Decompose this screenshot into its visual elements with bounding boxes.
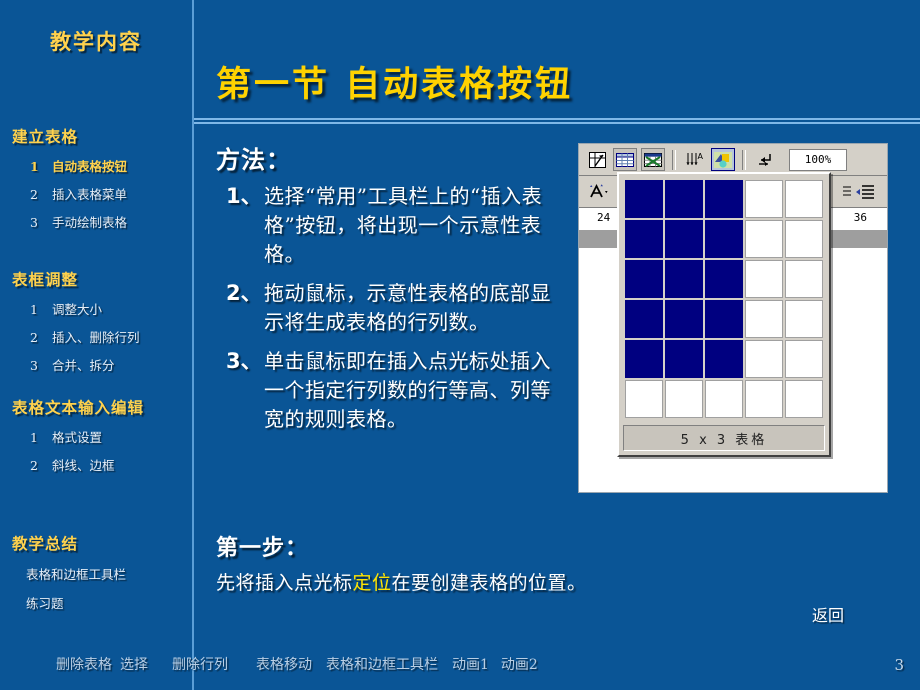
drawing-icon[interactable] [711,148,735,171]
sidebar-item-label: 斜线、边框 [52,455,115,474]
step-item: 1、 选择“常用”工具栏上的“插入表格”按钮，将出现一个示意性表格。 [226,182,566,269]
grid-cell[interactable] [705,340,743,378]
sidebar-item-exercises[interactable]: 练习题 [0,593,192,612]
step-one-title: 第一步： [216,530,308,562]
table-row [625,380,823,418]
svg-text:A: A [698,152,704,161]
footer-link-delete-rows-cols[interactable]: 删除行列 [172,654,228,674]
grid-cell[interactable] [665,380,703,418]
step-text: 选择“常用”工具栏上的“插入表格”按钮，将出现一个示意性表格。 [264,182,566,269]
grid-cell[interactable] [705,220,743,258]
sidebar-heading-1[interactable]: 建立表格 [0,125,192,147]
sidebar-group-4: 教学总结 表格和边框工具栏 练习题 [0,532,192,612]
table-grid-popup[interactable]: 5 x 3 表格 [617,172,831,457]
grid-cell[interactable] [745,300,783,338]
footer-link-tables-borders-toolbar[interactable]: 表格和边框工具栏 [326,654,438,674]
word-screenshot: A 100% [578,143,888,493]
grid-cell[interactable] [785,380,823,418]
grid-cell[interactable] [625,260,663,298]
sidebar-item-insert-delete-rows-cols[interactable]: 2 插入、删除行列 [0,327,192,346]
sidebar-item-number: 2 [30,187,52,202]
sidebar-item-number: 1 [30,430,52,445]
grid-cell[interactable] [705,380,743,418]
font-size-grow-icon[interactable] [587,180,611,203]
table-row [625,180,823,218]
insert-table-draw-icon[interactable] [585,148,609,171]
method-label: 方法： [216,140,291,175]
sidebar-item-insert-table-menu[interactable]: 2 插入表格菜单 [0,184,192,203]
grid-cell[interactable] [625,220,663,258]
list-lines-icon [841,180,853,203]
title-underline [194,118,920,124]
decrease-indent-icon[interactable] [853,180,877,203]
sidebar-item-number: 3 [30,215,52,230]
grid-cell[interactable] [785,300,823,338]
sidebar-group-3: 表格文本输入编辑 1 格式设置 2 斜线、边框 [0,396,192,474]
table-row [625,340,823,378]
step-item: 2、 拖动鼠标，示意性表格的底部显示将生成表格的行列数。 [226,279,566,337]
step-one-text-after: 在要创建表格的位置。 [392,572,587,594]
sidebar-item-label: 格式设置 [52,427,102,446]
sidebar-item-label: 手动绘制表格 [52,212,127,231]
step-one-text: 先将插入点光标定位在要创建表格的位置。 [216,568,587,595]
show-formatting-icon[interactable] [753,148,777,171]
sidebar-item-manual-draw-table[interactable]: 3 手动绘制表格 [0,212,192,231]
insert-table-icon[interactable] [613,148,637,171]
grid-cell[interactable] [625,380,663,418]
grid-cell[interactable] [705,180,743,218]
grid-cell[interactable] [745,380,783,418]
ruler-number-right: 36 [854,211,867,224]
sidebar-item-label: 调整大小 [52,299,102,318]
grid-cell[interactable] [705,260,743,298]
sidebar-item-number: 2 [30,458,52,473]
step-number: 2、 [226,279,264,337]
page-title: 第一节 自动表格按钮 [216,56,573,107]
toolbar-separator [742,150,746,170]
step-text: 拖动鼠标，示意性表格的底部显示将生成表格的行列数。 [264,279,566,337]
grid-cell[interactable] [625,340,663,378]
footer-links: 删除表格 选择 删除行列 表格移动 表格和边框工具栏 动画1 动画2 [56,654,538,674]
sidebar-item-number: 1 [30,159,52,174]
grid-cell[interactable] [665,260,703,298]
step-text: 单击鼠标即在插入点光标处插入一个指定行列数的行等高、列等宽的规则表格。 [264,347,566,434]
sidebar-heading-4[interactable]: 教学总结 [0,532,192,554]
page-number: 3 [894,656,904,674]
grid-cell[interactable] [625,300,663,338]
sidebar-item-label: 合并、拆分 [52,355,115,374]
grid-cell[interactable] [785,180,823,218]
footer-link-delete-table[interactable]: 删除表格 [56,654,112,674]
ruler-number-left: 24 [597,211,610,224]
zoom-level-input[interactable]: 100% [789,149,847,171]
table-row [625,300,823,338]
grid-cell[interactable] [745,180,783,218]
grid-cell[interactable] [665,300,703,338]
sidebar-divider [192,0,194,690]
sidebar: 教学内容 建立表格 1 自动表格按钮 2 插入表格菜单 3 手动绘制表格 表框调… [0,0,192,690]
sidebar-item-format-settings[interactable]: 1 格式设置 [0,427,192,446]
grid-cell[interactable] [745,260,783,298]
step-number: 3、 [226,347,264,434]
table-grid[interactable] [623,178,825,420]
footer-link-select[interactable]: 选择 [120,654,148,674]
step-item: 3、 单击鼠标即在插入点光标处插入一个指定行列数的行等高、列等宽的规则表格。 [226,347,566,434]
grid-size-label: 5 x 3 表格 [623,425,825,451]
sidebar-item-number: 1 [30,302,52,317]
sidebar-heading-3[interactable]: 表格文本输入编辑 [0,396,192,418]
steps-list: 1、 选择“常用”工具栏上的“插入表格”按钮，将出现一个示意性表格。 2、 拖动… [226,182,566,444]
toolbar-separator [672,150,676,170]
sidebar-item-merge-split[interactable]: 3 合并、拆分 [0,355,192,374]
sidebar-group-2: 表框调整 1 调整大小 2 插入、删除行列 3 合并、拆分 [0,268,192,374]
grid-cell[interactable] [785,340,823,378]
grid-cell[interactable] [665,340,703,378]
sidebar-title: 教学内容 [0,26,192,56]
step-number: 1、 [226,182,264,269]
sidebar-item-diagonal-border[interactable]: 2 斜线、边框 [0,455,192,474]
sidebar-heading-2[interactable]: 表框调整 [0,268,192,290]
return-link[interactable]: 返回 [812,602,844,626]
grid-cell[interactable] [705,300,743,338]
grid-cell[interactable] [785,260,823,298]
grid-cell[interactable] [665,180,703,218]
footer-link-animation-2[interactable]: 动画2 [501,654,538,674]
grid-cell[interactable] [785,220,823,258]
columns-icon[interactable]: A [683,148,707,171]
grid-cell[interactable] [625,180,663,218]
table-row [625,220,823,258]
table-row [625,260,823,298]
slide-canvas: 教学内容 建立表格 1 自动表格按钮 2 插入表格菜单 3 手动绘制表格 表框调… [0,0,920,690]
footer-bar: 删除表格 选择 删除行列 表格移动 表格和边框工具栏 动画1 动画2 3 [0,644,920,690]
sidebar-group-1: 建立表格 1 自动表格按钮 2 插入表格菜单 3 手动绘制表格 [0,125,192,231]
grid-cell[interactable] [745,340,783,378]
sidebar-item-auto-table-button[interactable]: 1 自动表格按钮 [0,156,192,175]
sidebar-item-tables-borders-toolbar[interactable]: 表格和边框工具栏 [0,564,192,583]
footer-link-table-move[interactable]: 表格移动 [256,654,312,674]
sidebar-item-label: 插入表格菜单 [52,184,127,203]
step-one-text-before: 先将插入点光标 [216,572,353,594]
sidebar-item-adjust-size[interactable]: 1 调整大小 [0,299,192,318]
grid-cell[interactable] [745,220,783,258]
sidebar-item-label: 插入、删除行列 [52,327,140,346]
step-one-highlight: 定位 [353,572,392,594]
sidebar-item-number: 2 [30,330,52,345]
footer-link-animation-1[interactable]: 动画1 [452,654,489,674]
insert-excel-sheet-icon[interactable] [641,148,665,171]
grid-cell[interactable] [665,220,703,258]
sidebar-item-label: 自动表格按钮 [52,156,127,175]
sidebar-item-number: 3 [30,358,52,373]
